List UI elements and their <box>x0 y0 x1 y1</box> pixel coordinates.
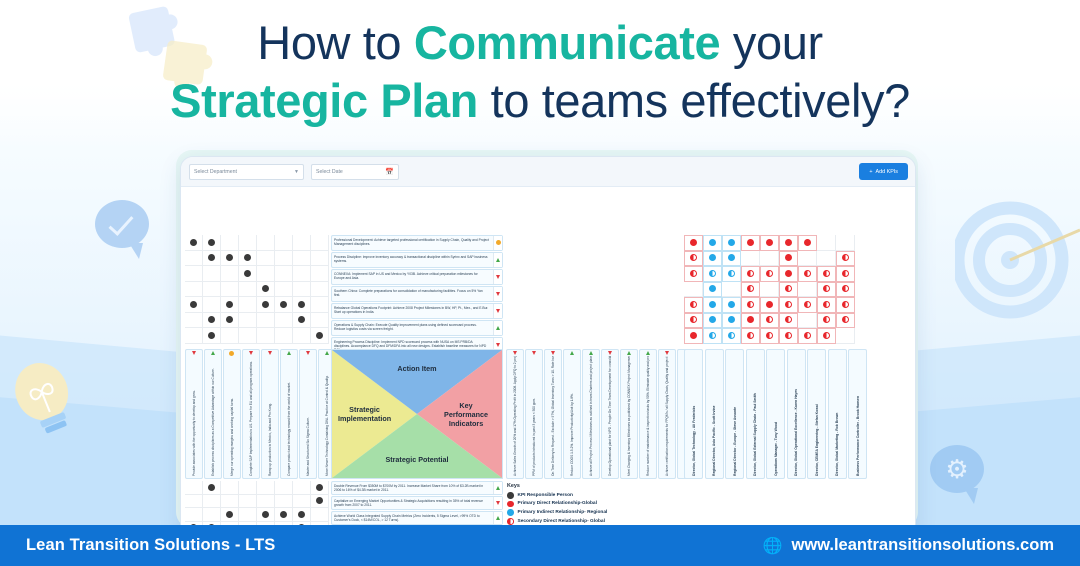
keys-marker-red-half <box>507 518 514 525</box>
matrix-cell[interactable] <box>203 266 221 282</box>
matrix-cell[interactable] <box>257 266 275 282</box>
matrix-cell[interactable] <box>221 495 239 509</box>
kpi-column[interactable]: Achieve Sales Growth of 20% and 17% Oper… <box>506 349 524 479</box>
column-label: Move Newer Technology Containing DWL Pra… <box>325 356 329 478</box>
column-label: On Time Delivery to Request - Exclude > … <box>551 356 555 478</box>
matrix-cell[interactable] <box>293 266 311 282</box>
person-column[interactable]: Regional Director, Asia Pacific - Scott … <box>705 349 724 479</box>
matrix-top-right[interactable] <box>684 235 855 344</box>
matrix-cell[interactable] <box>836 266 855 282</box>
kpi-column[interactable]: Achieve all Project Process Milestones a… <box>582 349 600 479</box>
column-label: Director, Global External Supply Chain -… <box>753 350 757 478</box>
row-status-badge <box>493 287 502 301</box>
headline-l1-part-a: How to <box>257 16 414 69</box>
matrix-cell[interactable] <box>779 251 798 267</box>
trend-down-icon <box>496 343 500 347</box>
matrix-cell[interactable] <box>221 328 239 344</box>
relationship-marker-red <box>747 316 754 323</box>
matrix-cell[interactable] <box>760 297 779 313</box>
matrix-cell[interactable] <box>703 282 722 298</box>
column-label: Director, Global Technology - Ali Freder… <box>692 350 696 478</box>
matrix-cell[interactable] <box>779 313 798 329</box>
list-item[interactable]: Achieve World Class Integrated Supply Ch… <box>331 511 503 525</box>
relationship-marker-blue <box>709 316 716 323</box>
matrix-top-left[interactable] <box>185 235 329 344</box>
relationship-marker-blue <box>728 254 735 261</box>
matrix-cell[interactable] <box>293 235 311 251</box>
matrix-cell[interactable] <box>311 251 329 267</box>
matrix-cell[interactable] <box>722 235 741 251</box>
matrix-cell[interactable] <box>185 266 203 282</box>
trend-down-icon <box>496 309 500 313</box>
matrix-cell[interactable] <box>275 481 293 495</box>
relationship-marker-halfblue <box>709 270 716 277</box>
matrix-cell[interactable] <box>779 282 798 298</box>
trend-down-icon <box>665 351 669 355</box>
matrix-cell[interactable] <box>185 297 203 313</box>
matrix-cell[interactable] <box>817 251 836 267</box>
matrix-cell[interactable] <box>684 282 703 298</box>
column-label: PPM of products introduced in past 3 yea… <box>532 356 536 478</box>
matrix-cell[interactable] <box>311 328 329 344</box>
relationship-marker-red <box>785 239 792 246</box>
relationship-marker-red <box>785 270 792 277</box>
matrix-cell[interactable] <box>293 251 311 267</box>
relationship-marker-halfred <box>785 301 792 308</box>
matrix-cell[interactable] <box>722 328 741 344</box>
matrix-cell[interactable] <box>185 282 203 298</box>
matrix-cell[interactable] <box>185 495 203 509</box>
x-matrix-diamond: Strategic Implementation Action Item Key… <box>331 349 503 479</box>
matrix-cell[interactable] <box>185 328 203 344</box>
relationship-marker-red <box>804 239 811 246</box>
keys-legend-label: Primary Indirect Relationship- Regional <box>518 510 608 515</box>
relationship-marker-halfred <box>823 332 830 339</box>
matrix-cell[interactable] <box>221 297 239 313</box>
matrix-cell[interactable] <box>221 266 239 282</box>
matrix-cell[interactable] <box>741 297 760 313</box>
trend-up-icon <box>496 516 500 520</box>
matrix-cell[interactable] <box>257 328 275 344</box>
matrix-cell[interactable] <box>185 481 203 495</box>
trend-down-icon <box>513 351 517 355</box>
matrix-cell[interactable] <box>760 235 779 251</box>
column-status-badge <box>229 350 234 357</box>
quadrant-impl-line2: Implementation <box>338 414 391 423</box>
column-label: Meet Charging & Inventory Milestones as … <box>627 356 631 478</box>
person-column[interactable]: Operations Manager - Tony Wood <box>766 349 785 479</box>
matrix-cell[interactable] <box>684 251 703 267</box>
matrix-cell[interactable] <box>257 313 275 329</box>
trend-down-icon <box>496 292 500 296</box>
matrix-cell[interactable] <box>185 313 203 329</box>
keys-marker-black-filled <box>507 492 514 499</box>
column-label: Reduce COGS 1.5-2%. Improve Productivity… <box>570 356 574 478</box>
kpi-column[interactable]: PPM of products introduced in past 3 yea… <box>525 349 543 479</box>
matrix-cell[interactable] <box>836 313 855 329</box>
matrix-cell[interactable] <box>203 297 221 313</box>
matrix-cell[interactable] <box>703 251 722 267</box>
matrix-cell[interactable] <box>836 297 855 313</box>
department-select[interactable]: Select Department ▼ <box>189 164 304 180</box>
relationship-marker-halfred <box>690 301 697 308</box>
matrix-cell[interactable] <box>741 235 760 251</box>
matrix-cell[interactable] <box>293 508 311 522</box>
trend-up-icon <box>496 486 500 490</box>
keys-legend-item: Primary Direct Relationship-Global <box>507 501 687 508</box>
matrix-cell[interactable] <box>836 251 855 267</box>
matrix-cell[interactable] <box>239 481 257 495</box>
matrix-cell[interactable] <box>221 235 239 251</box>
relationship-marker-halfred <box>842 254 849 261</box>
matrix-cell[interactable] <box>684 297 703 313</box>
implementation-column[interactable]: Master and Structured Six Sigma Culture. <box>299 349 317 479</box>
relationship-marker-red <box>747 239 754 246</box>
matrix-cell[interactable] <box>203 495 221 509</box>
column-label: Director, Global Marketing - Rob Brown <box>835 350 839 478</box>
keys-legend-label: Secondary Direct Relationship- Global <box>518 519 605 524</box>
matrix-cell[interactable] <box>239 235 257 251</box>
list-item-text: Rebalance Global Operations Footprint: A… <box>332 304 491 318</box>
page-footer: Lean Transition Solutions - LTS 🌐 www.le… <box>0 525 1080 566</box>
column-label: Regional Director, Asia Pacific - Scott … <box>712 350 716 478</box>
list-item[interactable]: Process Discipline: Improve inventory ac… <box>331 252 503 268</box>
column-label: Complete SAP Implementation in US. Prepa… <box>249 356 253 478</box>
implementation-column[interactable]: Provide associates with the opportunity … <box>185 349 203 479</box>
person-column[interactable]: Director, Global Technology - Ali Freder… <box>684 349 703 479</box>
matrix-cell[interactable] <box>741 328 760 344</box>
relationship-marker-halfred <box>690 254 697 261</box>
kpi-column[interactable]: Meet Charging & Inventory Milestones as … <box>620 349 638 479</box>
matrix-cell[interactable] <box>257 282 275 298</box>
matrix-cell[interactable] <box>798 282 817 298</box>
kpi-column[interactable]: On Time Delivery to Request - Exclude > … <box>544 349 562 479</box>
list-item[interactable]: Rebalance Global Operations Footprint: A… <box>331 303 503 319</box>
matrix-cell[interactable] <box>203 235 221 251</box>
matrix-cell[interactable] <box>185 508 203 522</box>
matrix-cell[interactable] <box>722 297 741 313</box>
relationship-marker-blue <box>709 254 716 261</box>
relationship-marker-black <box>262 511 269 518</box>
keys-legend-item: KPI Responsible Person <box>507 492 687 499</box>
matrix-cell[interactable] <box>221 508 239 522</box>
lightbulb-icon <box>10 355 80 450</box>
list-item[interactable]: Double Revenue From $350M to $700M by 20… <box>331 481 503 495</box>
relationship-marker-halfred <box>766 316 773 323</box>
matrix-cell[interactable] <box>311 297 329 313</box>
date-select[interactable]: Select Date 📅 <box>311 164 399 180</box>
row-status-badge <box>493 482 502 494</box>
person-column[interactable]: Regional Director - Europe - Steve Assan… <box>725 349 744 479</box>
matrix-cell[interactable] <box>798 313 817 329</box>
matrix-cell[interactable] <box>293 328 311 344</box>
relationship-marker-halfred <box>766 270 773 277</box>
trend-down-icon <box>249 351 253 355</box>
matrix-cell[interactable] <box>257 495 275 509</box>
relationship-marker-blue <box>709 239 716 246</box>
trend-up-icon <box>325 351 329 355</box>
matrix-cell[interactable] <box>760 266 779 282</box>
list-item[interactable]: Southern China: Complete preparations fo… <box>331 286 503 302</box>
relationship-marker-red <box>766 301 773 308</box>
person-column[interactable]: Director, CEMEA Engineering - Stefan Kow… <box>807 349 826 479</box>
list-item[interactable]: Operations & Supply Chain: Execute Quali… <box>331 320 503 336</box>
relationship-marker-blue <box>728 301 735 308</box>
relationship-marker-halfred <box>747 301 754 308</box>
row-status-badge <box>493 304 502 318</box>
keys-legend-label: KPI Responsible Person <box>518 493 573 498</box>
matrix-cell[interactable] <box>684 235 703 251</box>
matrix-cell[interactable] <box>275 495 293 509</box>
matrix-cell[interactable] <box>760 251 779 267</box>
relationship-marker-black <box>208 484 215 491</box>
trend-up-icon <box>287 351 291 355</box>
relationship-marker-red <box>690 239 697 246</box>
matrix-cell[interactable] <box>798 251 817 267</box>
matrix-cell[interactable] <box>239 251 257 267</box>
implementation-column[interactable]: Merge our operating margins and working … <box>223 349 241 479</box>
relationship-marker-black <box>262 285 269 292</box>
matrix-cell[interactable] <box>239 328 257 344</box>
matrix-cell[interactable] <box>275 313 293 329</box>
matrix-cell[interactable] <box>311 266 329 282</box>
matrix-cell[interactable] <box>741 251 760 267</box>
matrix-cell[interactable] <box>239 266 257 282</box>
matrix-cell[interactable] <box>239 508 257 522</box>
relationship-marker-halfred <box>823 285 830 292</box>
plus-icon: + <box>869 169 872 175</box>
relationship-marker-blue <box>709 285 716 292</box>
matrix-cell[interactable] <box>760 282 779 298</box>
matrix-cell[interactable] <box>275 235 293 251</box>
relationship-marker-black <box>280 511 287 518</box>
matrix-cell[interactable] <box>239 495 257 509</box>
matrix-cell[interactable] <box>203 508 221 522</box>
matrix-cell[interactable] <box>203 282 221 298</box>
matrix-cell[interactable] <box>221 481 239 495</box>
matrix-cell[interactable] <box>221 282 239 298</box>
matrix-cell[interactable] <box>257 297 275 313</box>
trend-up-icon <box>627 351 631 355</box>
matrix-cell[interactable] <box>779 235 798 251</box>
matrix-cell[interactable] <box>311 313 329 329</box>
list-item-text: Double Revenue From $350M to $700M by 20… <box>332 482 491 494</box>
list-item-text: Southern China: Complete preparations fo… <box>332 287 491 301</box>
list-item[interactable]: Professional Development: Achieve target… <box>331 235 503 251</box>
matrix-cell[interactable] <box>185 235 203 251</box>
relationship-marker-black <box>208 239 215 246</box>
person-column[interactable]: Director, Global External Supply Chain -… <box>746 349 765 479</box>
matrix-cell[interactable] <box>293 495 311 509</box>
relationship-marker-halfred <box>690 270 697 277</box>
matrix-cell[interactable] <box>817 328 836 344</box>
matrix-cell[interactable] <box>275 282 293 298</box>
strategic-implementation-columns: Provide associates with the opportunity … <box>185 349 337 479</box>
column-label: Achieve certification requirements for F… <box>665 356 669 478</box>
matrix-cell[interactable] <box>779 266 798 282</box>
matrix-cell[interactable] <box>817 313 836 329</box>
matrix-cell[interactable] <box>311 235 329 251</box>
matrix-cell[interactable] <box>836 235 855 251</box>
trend-down-icon <box>532 351 536 355</box>
matrix-cell[interactable] <box>275 328 293 344</box>
quadrant-kpi-line1: Key <box>444 401 488 410</box>
footer-website-label: www.leantransitionsolutions.com <box>791 536 1054 555</box>
matrix-cell[interactable] <box>257 251 275 267</box>
column-label: Merge our operating margins and working … <box>230 357 234 478</box>
relationship-marker-black <box>262 301 269 308</box>
matrix-cell[interactable] <box>741 313 760 329</box>
headline-l2-accent: Strategic Plan <box>170 74 478 127</box>
matrix-cell[interactable] <box>221 313 239 329</box>
trend-down-icon <box>496 501 500 505</box>
status-amber-icon <box>229 351 234 356</box>
person-column[interactable]: Business Performance Controller - Brook … <box>848 349 867 479</box>
column-label: Regional Director - Europe - Steve Assan… <box>733 350 737 478</box>
matrix-cell[interactable] <box>817 297 836 313</box>
matrix-cell[interactable] <box>836 282 855 298</box>
matrix-cell[interactable] <box>703 297 722 313</box>
list-item[interactable]: CONNEXA: Implement SAP in US and Mexico … <box>331 269 503 285</box>
matrix-cell[interactable] <box>275 297 293 313</box>
relationship-marker-red <box>785 254 792 261</box>
matrix-cell[interactable] <box>798 266 817 282</box>
implementation-column[interactable]: Ramp up production in Mexico, India and … <box>261 349 279 479</box>
relationship-marker-black <box>316 484 323 491</box>
matrix-cell[interactable] <box>798 297 817 313</box>
keys-marker-red-filled <box>507 501 514 508</box>
list-item-text: CONNEXA: Implement SAP in US and Mexico … <box>332 270 491 284</box>
column-label: Ramp up production in Mexico, India and … <box>268 356 272 478</box>
row-status-badge <box>493 253 502 267</box>
matrix-cell[interactable] <box>703 313 722 329</box>
matrix-cell[interactable] <box>684 266 703 282</box>
matrix-cell[interactable] <box>722 282 741 298</box>
kpi-column[interactable]: Develop Operational plant for NPD - Peop… <box>601 349 619 479</box>
calendar-icon: 📅 <box>385 168 394 176</box>
list-item-text: Achieve World Class Integrated Supply Ch… <box>332 512 491 524</box>
matrix-cell[interactable] <box>257 481 275 495</box>
matrix-cell[interactable] <box>798 235 817 251</box>
matrix-cell[interactable] <box>221 251 239 267</box>
kpi-column[interactable]: Reduce COGS 1.5-2%. Improve Productivity… <box>563 349 581 479</box>
matrix-cell[interactable] <box>311 481 329 495</box>
kpi-column[interactable]: Achieve certification requirements for F… <box>658 349 676 479</box>
matrix-cell[interactable] <box>684 313 703 329</box>
relationship-marker-black <box>316 497 323 504</box>
relationship-marker-black <box>280 301 287 308</box>
target-icon <box>955 198 1080 323</box>
trend-down-icon <box>551 351 555 355</box>
matrix-cell[interactable] <box>817 282 836 298</box>
footer-website[interactable]: 🌐 www.leantransitionsolutions.com <box>763 536 1054 556</box>
relationship-marker-black <box>298 511 305 518</box>
matrix-cell[interactable] <box>684 328 703 344</box>
relationship-marker-black <box>226 511 233 518</box>
trend-down-icon <box>608 351 612 355</box>
matrix-cell[interactable] <box>722 251 741 267</box>
matrix-cell[interactable] <box>257 508 275 522</box>
matrix-cell[interactable] <box>293 297 311 313</box>
add-kpis-button[interactable]: + Add KPIs <box>860 164 907 179</box>
kpi-column[interactable]: Reduce number of maintenance & inspectio… <box>639 349 657 479</box>
column-label: Compare product and technology reward fr… <box>287 356 291 478</box>
matrix-cell[interactable] <box>275 251 293 267</box>
matrix-cell[interactable] <box>275 508 293 522</box>
matrix-cell[interactable] <box>203 328 221 344</box>
person-column[interactable]: Director, Global Operational Excellence … <box>787 349 806 479</box>
matrix-cell[interactable] <box>185 251 203 267</box>
relationship-marker-black <box>208 332 215 339</box>
relationship-marker-halfred <box>823 270 830 277</box>
relationship-marker-halfred <box>804 270 811 277</box>
matrix-cell[interactable] <box>722 313 741 329</box>
matrix-cell[interactable] <box>703 235 722 251</box>
column-label: Director, Global Operational Excellence … <box>794 350 798 478</box>
matrix-cell[interactable] <box>239 313 257 329</box>
matrix-cell[interactable] <box>311 508 329 522</box>
matrix-cell[interactable] <box>703 328 722 344</box>
matrix-cell[interactable] <box>293 282 311 298</box>
headline-l1-accent: Communicate <box>414 16 720 69</box>
implementation-column[interactable]: Compare product and technology reward fr… <box>280 349 298 479</box>
matrix-cell[interactable] <box>760 313 779 329</box>
implementation-column[interactable]: Establish process disciplines as a Compe… <box>204 349 222 479</box>
relationship-marker-blue <box>728 316 735 323</box>
matrix-cell[interactable] <box>722 266 741 282</box>
headline-l1-part-c: your <box>720 16 823 69</box>
matrix-cell[interactable] <box>203 313 221 329</box>
column-label: Reduce number of maintenance & inspectio… <box>646 356 650 478</box>
matrix-cell[interactable] <box>311 282 329 298</box>
relationship-marker-black <box>226 316 233 323</box>
kpi-columns: Achieve Sales Growth of 20% and 17% Oper… <box>506 349 696 479</box>
quadrant-kpi-line3: Indicators <box>444 419 488 428</box>
matrix-cell[interactable] <box>817 266 836 282</box>
headline-line-1: How to Communicate your <box>0 14 1080 72</box>
person-column[interactable]: Director, Global Marketing - Rob Brown <box>828 349 847 479</box>
matrix-cell[interactable] <box>836 328 855 344</box>
row-status-badge <box>493 321 502 335</box>
globe-icon: 🌐 <box>763 536 783 556</box>
matrix-cell[interactable] <box>741 282 760 298</box>
matrix-cell[interactable] <box>311 495 329 509</box>
relationship-marker-halfred <box>785 285 792 292</box>
matrix-cell[interactable] <box>741 266 760 282</box>
matrix-cell[interactable] <box>779 328 798 344</box>
matrix-cell[interactable] <box>293 481 311 495</box>
matrix-cell[interactable] <box>239 282 257 298</box>
matrix-cell[interactable] <box>203 481 221 495</box>
relationship-marker-halfblue <box>709 332 716 339</box>
matrix-cell[interactable] <box>275 266 293 282</box>
list-item[interactable]: Capitalize on Emerging Market Opportunit… <box>331 496 503 510</box>
implementation-column[interactable]: Complete SAP Implementation in US. Prepa… <box>242 349 260 479</box>
matrix-cell[interactable] <box>257 235 275 251</box>
keys-legend-label: Primary Direct Relationship-Global <box>518 501 597 506</box>
matrix-cell[interactable] <box>779 297 798 313</box>
matrix-cell[interactable] <box>760 328 779 344</box>
matrix-cell[interactable] <box>817 235 836 251</box>
matrix-cell[interactable] <box>203 251 221 267</box>
list-item-text: Operations & Supply Chain: Execute Quali… <box>332 321 491 335</box>
quadrant-action-label: Action Item <box>397 364 436 373</box>
strategy-deployment-app: Select Department ▼ Select Date 📅 + Add … <box>180 156 916 536</box>
matrix-cell[interactable] <box>798 328 817 344</box>
matrix-cell[interactable] <box>239 297 257 313</box>
matrix-cell[interactable] <box>293 313 311 329</box>
matrix-cell[interactable] <box>703 266 722 282</box>
